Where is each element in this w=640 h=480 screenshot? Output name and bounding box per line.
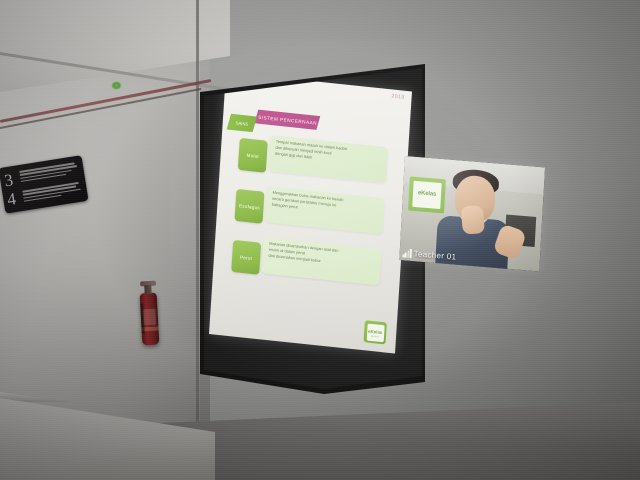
presentation-slide: 2019 SISTEM PENCERNAAN SAINS Mulut <box>209 72 412 354</box>
extinguisher-label <box>142 309 156 326</box>
slide-header-topic-bar: SISTEM PENCERNAAN <box>254 110 320 130</box>
slide-header-topic-label: SISTEM PENCERNAAN <box>258 114 317 125</box>
slide-row-text-bubble: Makanan dicampurkan dengan asid dan enzi… <box>261 237 381 285</box>
slide-content-rows: Mulut Tempat makanan masuk ke dalam bada… <box>222 131 402 302</box>
wall-corner-seam <box>196 0 199 480</box>
slide-row-tag-label: Esofagus <box>239 203 260 210</box>
slide-row: Esofagus Menggerakkan bolus makanan ke b… <box>226 182 399 244</box>
projected-slide-stage: 2019 SISTEM PENCERNAAN SAINS Mulut <box>196 64 426 394</box>
green-indicator-led <box>112 82 121 89</box>
slide-row-tag: Mulut <box>238 138 268 173</box>
slide-row-tag-label: Perut <box>240 254 252 260</box>
classroom-photo-scene: 3 4 2019 <box>0 0 640 480</box>
slide-row: Mulut Tempat makanan masuk ke dalam bada… <box>229 131 402 193</box>
sign-number-3: 3 <box>3 171 14 189</box>
slide-row-text-bubble: Tempat makanan masuk ke dalam badan dan … <box>268 135 388 183</box>
slide-row-text-bubble: Menggerakkan bolus makanan ke bawah seca… <box>265 186 385 234</box>
extinguisher-neck <box>144 285 151 294</box>
fire-extinguisher <box>140 293 160 346</box>
slide-header-subject-label: SAINS <box>235 120 248 126</box>
slide-header-subject-tab: SAINS <box>227 114 257 132</box>
projection-screen-surface: 2019 SISTEM PENCERNAAN SAINS Mulut <box>196 64 426 394</box>
sign-number-4: 4 <box>6 190 17 208</box>
video-conference-tile[interactable]: eKelas Teacher 01 <box>399 156 545 271</box>
ekelas-logo: eKelas MAXIS <box>363 320 386 344</box>
slide-row-tag: Esofagus <box>234 189 264 224</box>
signal-strength-icon <box>402 248 411 258</box>
slide-year: 2019 <box>391 93 405 100</box>
sign-text-block-top <box>19 162 78 184</box>
slide-row-tag: Perut <box>231 240 261 275</box>
slide-row: Perut Makanan dicampurkan dengan asid da… <box>223 233 396 295</box>
sign-text-block-bottom <box>22 182 81 204</box>
slide-row-tag-label: Mulut <box>247 152 260 158</box>
